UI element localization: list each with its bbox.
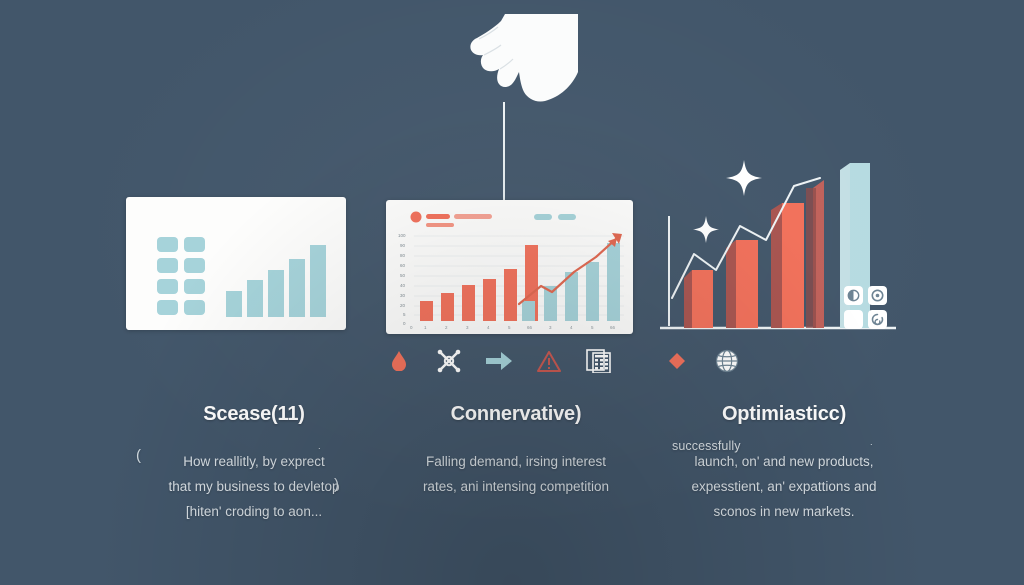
column-title-optimistic: Optimiasticc): [640, 403, 928, 426]
svg-text:66: 66: [610, 325, 616, 330]
icon-tile: [868, 286, 887, 305]
svg-text:4: 4: [487, 325, 490, 330]
svg-text:66: 66: [527, 325, 533, 330]
svg-text:30: 30: [400, 293, 406, 298]
svg-text:40: 40: [400, 283, 406, 288]
icon-tile: [868, 310, 887, 329]
svg-text:0: 0: [403, 321, 406, 326]
svg-text:5: 5: [591, 325, 594, 330]
cross-tool-icon[interactable]: [436, 348, 462, 374]
svg-text:5: 5: [403, 312, 406, 317]
growth-bar-chart: [648, 158, 918, 343]
svg-text:2: 2: [445, 325, 448, 330]
growth-bar-chart-svg: [648, 158, 918, 343]
body-line: that my business to devletop: [110, 475, 398, 500]
svg-text:3: 3: [466, 325, 469, 330]
tile-grid-bar-chart: [126, 197, 346, 330]
stray-paren-close-mark: ): [334, 476, 339, 493]
dual-bar-chart: 100 90 80 60 50 40 30 20 5 0: [386, 200, 633, 334]
body-line: expesstient, an' expattions and: [640, 475, 928, 500]
svg-text:0: 0: [410, 325, 413, 330]
body-line: launch, on' and new products,: [640, 450, 928, 475]
tile-grid-bar-card: [126, 197, 346, 330]
calculator-icon[interactable]: [586, 348, 612, 374]
icon-row-conservative: [386, 348, 633, 374]
icon-tile: [844, 286, 863, 305]
body-line: sconos in new markets.: [640, 500, 928, 525]
svg-text:60: 60: [400, 263, 406, 268]
icon-tile: [844, 310, 863, 329]
globe-icon[interactable]: [714, 348, 740, 374]
column-body-optimistic: launch, on' and new products, expesstien…: [640, 450, 928, 525]
svg-text:3: 3: [549, 325, 552, 330]
hand-icon: [448, 14, 578, 124]
x-axis-ticks: 0 1 2 3 4 5 66 3 4 5 66: [410, 325, 616, 330]
stray-paren-open-mark: (: [136, 447, 141, 464]
sparkle-icon: [693, 216, 719, 243]
column-body-conservative: Falling demand, irsing interest rates, a…: [372, 450, 660, 500]
svg-text:90: 90: [400, 243, 406, 248]
stray-overlay-word: successfully: [672, 439, 741, 453]
illustration-canvas: Scease(11) How reallitly, by exprect tha…: [0, 0, 1024, 585]
dual-bar-chart-card: 100 90 80 60 50 40 30 20 5 0: [386, 200, 633, 334]
body-line: How reallitly, by exprect: [110, 450, 398, 475]
svg-text:80: 80: [400, 253, 406, 258]
column-title-scease: Scease(11): [110, 403, 398, 426]
arrow-right-icon[interactable]: [486, 348, 512, 374]
flame-drop-icon[interactable]: [386, 348, 412, 374]
y-axis-ticks: 100 90 80 60 50 40 30 20 5 0: [398, 233, 406, 326]
tile-grid: [157, 237, 205, 315]
svg-text:4: 4: [570, 325, 573, 330]
stray-tick-mark: ˙: [870, 443, 874, 455]
column-title-conservative: Connervative): [372, 403, 660, 426]
warning-triangle-icon[interactable]: [536, 348, 562, 374]
ascending-bars: [226, 245, 326, 317]
body-line: rates, ani intensing competition: [372, 475, 660, 500]
svg-text:20: 20: [400, 303, 406, 308]
column-body-scease: How reallitly, by exprect that my busine…: [110, 450, 398, 525]
svg-text:1: 1: [424, 325, 427, 330]
chart-legend: [411, 212, 577, 228]
series-bars-3d: [684, 163, 870, 328]
svg-text:100: 100: [398, 233, 406, 238]
stray-tick-mark: ˙: [318, 447, 322, 459]
icon-row-optimistic: [664, 348, 740, 374]
body-line: [hiten' croding to aon...: [110, 500, 398, 525]
diamond-icon[interactable]: [664, 348, 690, 374]
svg-text:5: 5: [508, 325, 511, 330]
svg-text:50: 50: [400, 273, 406, 278]
sparkle-icon: [726, 160, 762, 196]
body-line: Falling demand, irsing interest: [372, 450, 660, 475]
